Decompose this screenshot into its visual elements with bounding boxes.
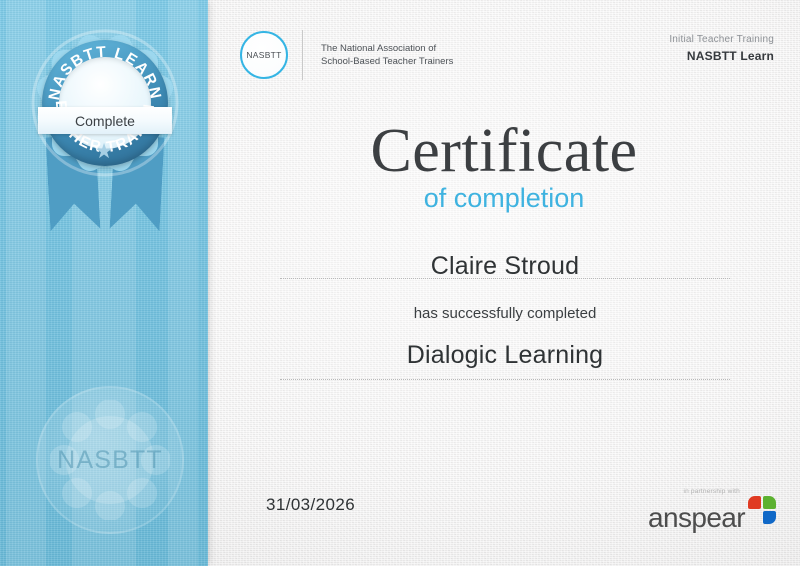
certificate-page: NASBTT NASBTT — [0, 0, 800, 566]
logo-divider — [302, 30, 303, 80]
anspear-wordmark: anspear — [648, 502, 745, 534]
issue-date: 31/03/2026 — [266, 495, 355, 515]
tagline-line-1: The National Association of — [321, 42, 453, 55]
tagline-line-2: School-Based Teacher Trainers — [321, 55, 453, 68]
header-program-info: Initial Teacher Training NASBTT Learn — [669, 34, 774, 63]
badge-status-band: Complete — [38, 107, 172, 134]
nasbtt-tagline: The National Association of School-Based… — [321, 42, 453, 68]
badge-arc-top-text: NASBTT LEARN — [46, 44, 164, 102]
course-rule — [280, 379, 730, 380]
nasbtt-watermark: NASBTT — [36, 386, 184, 534]
completion-statement: has successfully completed — [280, 305, 730, 322]
star-icon: ★ — [93, 141, 115, 163]
nasbtt-logo-circle-text: NASBTT — [246, 50, 281, 60]
petal-blue — [763, 511, 776, 524]
recipient-field: Claire Stroud — [280, 252, 730, 281]
nasbtt-logo-circle-icon: NASBTT — [240, 31, 288, 79]
badge-status-label: Complete — [75, 113, 135, 129]
program-type-label: Initial Teacher Training — [669, 34, 774, 45]
certificate-subtitle: of completion — [208, 183, 800, 214]
program-platform-label: NASBTT Learn — [669, 49, 774, 63]
petal-red — [748, 496, 761, 509]
nasbtt-header-logo: NASBTT The National Association of Schoo… — [240, 30, 453, 80]
petal-green — [763, 496, 776, 509]
anspear-petal-mark-icon — [748, 496, 778, 526]
anspear-partner-logo: in partnership with anspear — [648, 488, 778, 536]
partnership-label: in partnership with — [683, 488, 740, 495]
watermark-text: NASBTT — [36, 386, 184, 534]
course-field: Dialogic Learning — [280, 341, 730, 370]
certificate-title: Certificate — [208, 118, 800, 184]
completion-badge: NASBTT LEARN TEACHER TRAINING Complete ★ — [26, 24, 184, 229]
recipient-name: Claire Stroud — [280, 252, 730, 281]
course-name: Dialogic Learning — [280, 341, 730, 370]
left-decorative-panel: NASBTT NASBTT — [0, 0, 208, 566]
